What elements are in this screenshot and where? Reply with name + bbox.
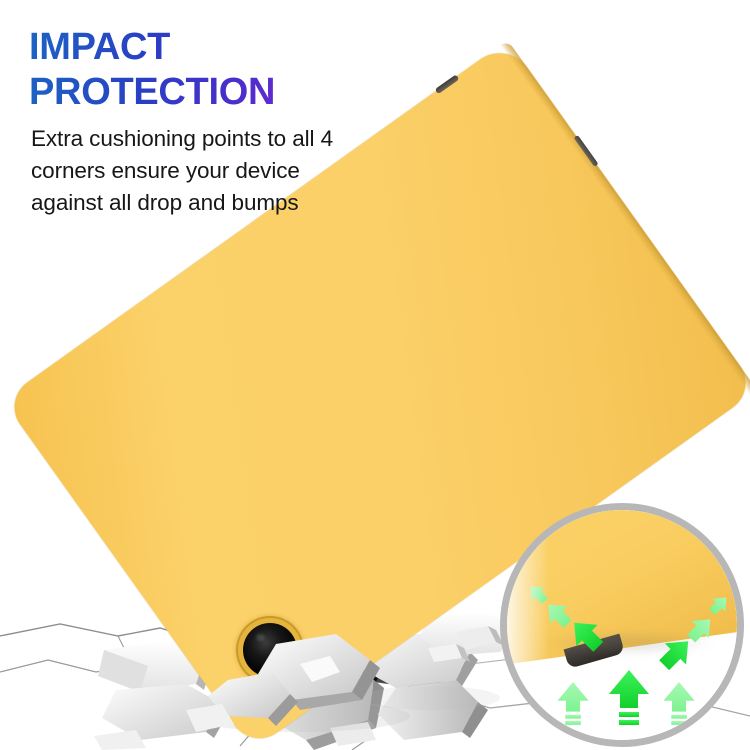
tablet-case-side-edge	[500, 40, 750, 395]
page-title: IMPACT PROTECTION	[29, 25, 449, 115]
magnifier-contents	[507, 510, 737, 740]
arrow-diagonal-left-outer	[524, 580, 551, 607]
arrow-up-center	[609, 670, 649, 725]
shock-absorption-arrows	[507, 510, 737, 740]
corner-detail-magnifier	[500, 503, 744, 747]
arrow-diagonal-right-outer	[706, 591, 733, 618]
arrow-up-right	[663, 682, 694, 725]
product-marketing-image: IMPACT PROTECTION Extra cushioning point…	[0, 0, 750, 750]
arrow-up-left	[557, 682, 588, 725]
arrow-diagonal-left-mid	[540, 596, 576, 632]
feature-description: Extra cushioning points to all 4 corners…	[31, 123, 341, 219]
